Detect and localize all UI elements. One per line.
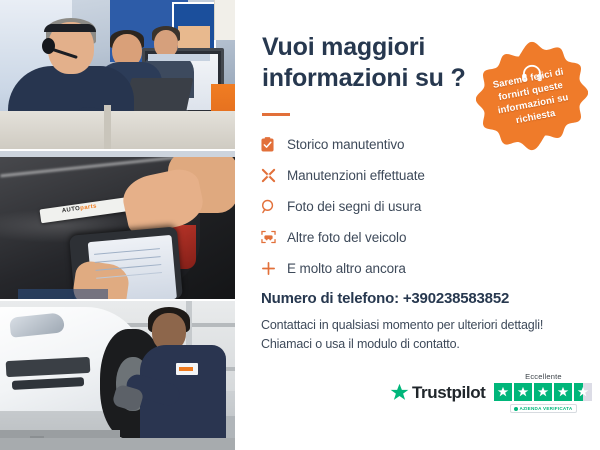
trustpilot-logo: Trustpilot bbox=[390, 383, 485, 403]
title-divider bbox=[262, 113, 290, 116]
content-panel: Vuoi maggiori informazioni su ? Saremo f… bbox=[235, 0, 600, 450]
page-title: Vuoi maggiori informazioni su ? bbox=[262, 32, 472, 93]
plus-icon bbox=[261, 261, 287, 276]
feature-item-molto-altro: E molto altro ancora bbox=[261, 254, 591, 282]
rating-label: Eccellente bbox=[525, 372, 562, 381]
star-filled-2 bbox=[514, 383, 532, 401]
photo-scan-icon bbox=[261, 230, 287, 244]
magnifier-icon bbox=[261, 199, 287, 214]
feature-item-altre-foto-veicolo: Altre foto del veicolo bbox=[261, 223, 591, 251]
feature-label: Storico manutentivo bbox=[287, 137, 404, 152]
verified-check-icon bbox=[514, 407, 518, 411]
photo-column: AUTOparts bbox=[0, 0, 235, 450]
feature-label: Foto dei segni di usura bbox=[287, 199, 421, 214]
promo-banner: AUTOparts bbox=[0, 0, 600, 450]
photo-technician-measuring-car-bumper-with-tablet: AUTOparts bbox=[0, 149, 235, 300]
feature-label: Manutenzioni effettuate bbox=[287, 168, 425, 183]
photo-call-center-agents-with-headsets bbox=[0, 0, 235, 149]
feature-item-foto-segni-usura: Foto dei segni di usura bbox=[261, 192, 591, 220]
feature-list: Storico manutentivo Manutenzioni effettu… bbox=[261, 130, 591, 285]
photo-mechanic-inspecting-car-wheel-on-lift bbox=[0, 299, 235, 450]
trustpilot-brand: Trustpilot bbox=[412, 383, 485, 403]
contact-line-1: Contattaci in qualsiasi momento per ulte… bbox=[261, 318, 543, 332]
clipboard-check-icon bbox=[261, 137, 287, 152]
star-rating bbox=[494, 383, 592, 401]
trustpilot-rating: Eccellente AZIENDA VERIFICATA bbox=[494, 372, 592, 413]
feature-label: E molto altro ancora bbox=[287, 261, 406, 276]
star-filled-4 bbox=[554, 383, 572, 401]
contact-line-2: Chiamaci o usa il modulo di contatto. bbox=[261, 337, 460, 351]
tools-cross-icon bbox=[261, 168, 287, 183]
phone-line: Numero di telefono: +390238583852 bbox=[261, 290, 509, 307]
verified-company-badge: AZIENDA VERIFICATA bbox=[510, 404, 578, 413]
star-filled-1 bbox=[494, 383, 512, 401]
feature-label: Altre foto del veicolo bbox=[287, 230, 406, 245]
phone-number[interactable]: +390238583852 bbox=[403, 290, 509, 307]
star-filled-3 bbox=[534, 383, 552, 401]
star-half-5 bbox=[574, 383, 592, 401]
phone-label: Numero di telefono: bbox=[261, 290, 399, 307]
feature-item-manutenzioni-effettuate: Manutenzioni effettuate bbox=[261, 161, 591, 189]
trustpilot-star-icon bbox=[390, 383, 409, 402]
trustpilot-widget[interactable]: Trustpilot Eccellente AZIENDA VERIFICATA bbox=[390, 372, 592, 413]
feature-item-storico-manutentivo: Storico manutentivo bbox=[261, 130, 591, 158]
verified-label: AZIENDA VERIFICATA bbox=[520, 406, 573, 411]
